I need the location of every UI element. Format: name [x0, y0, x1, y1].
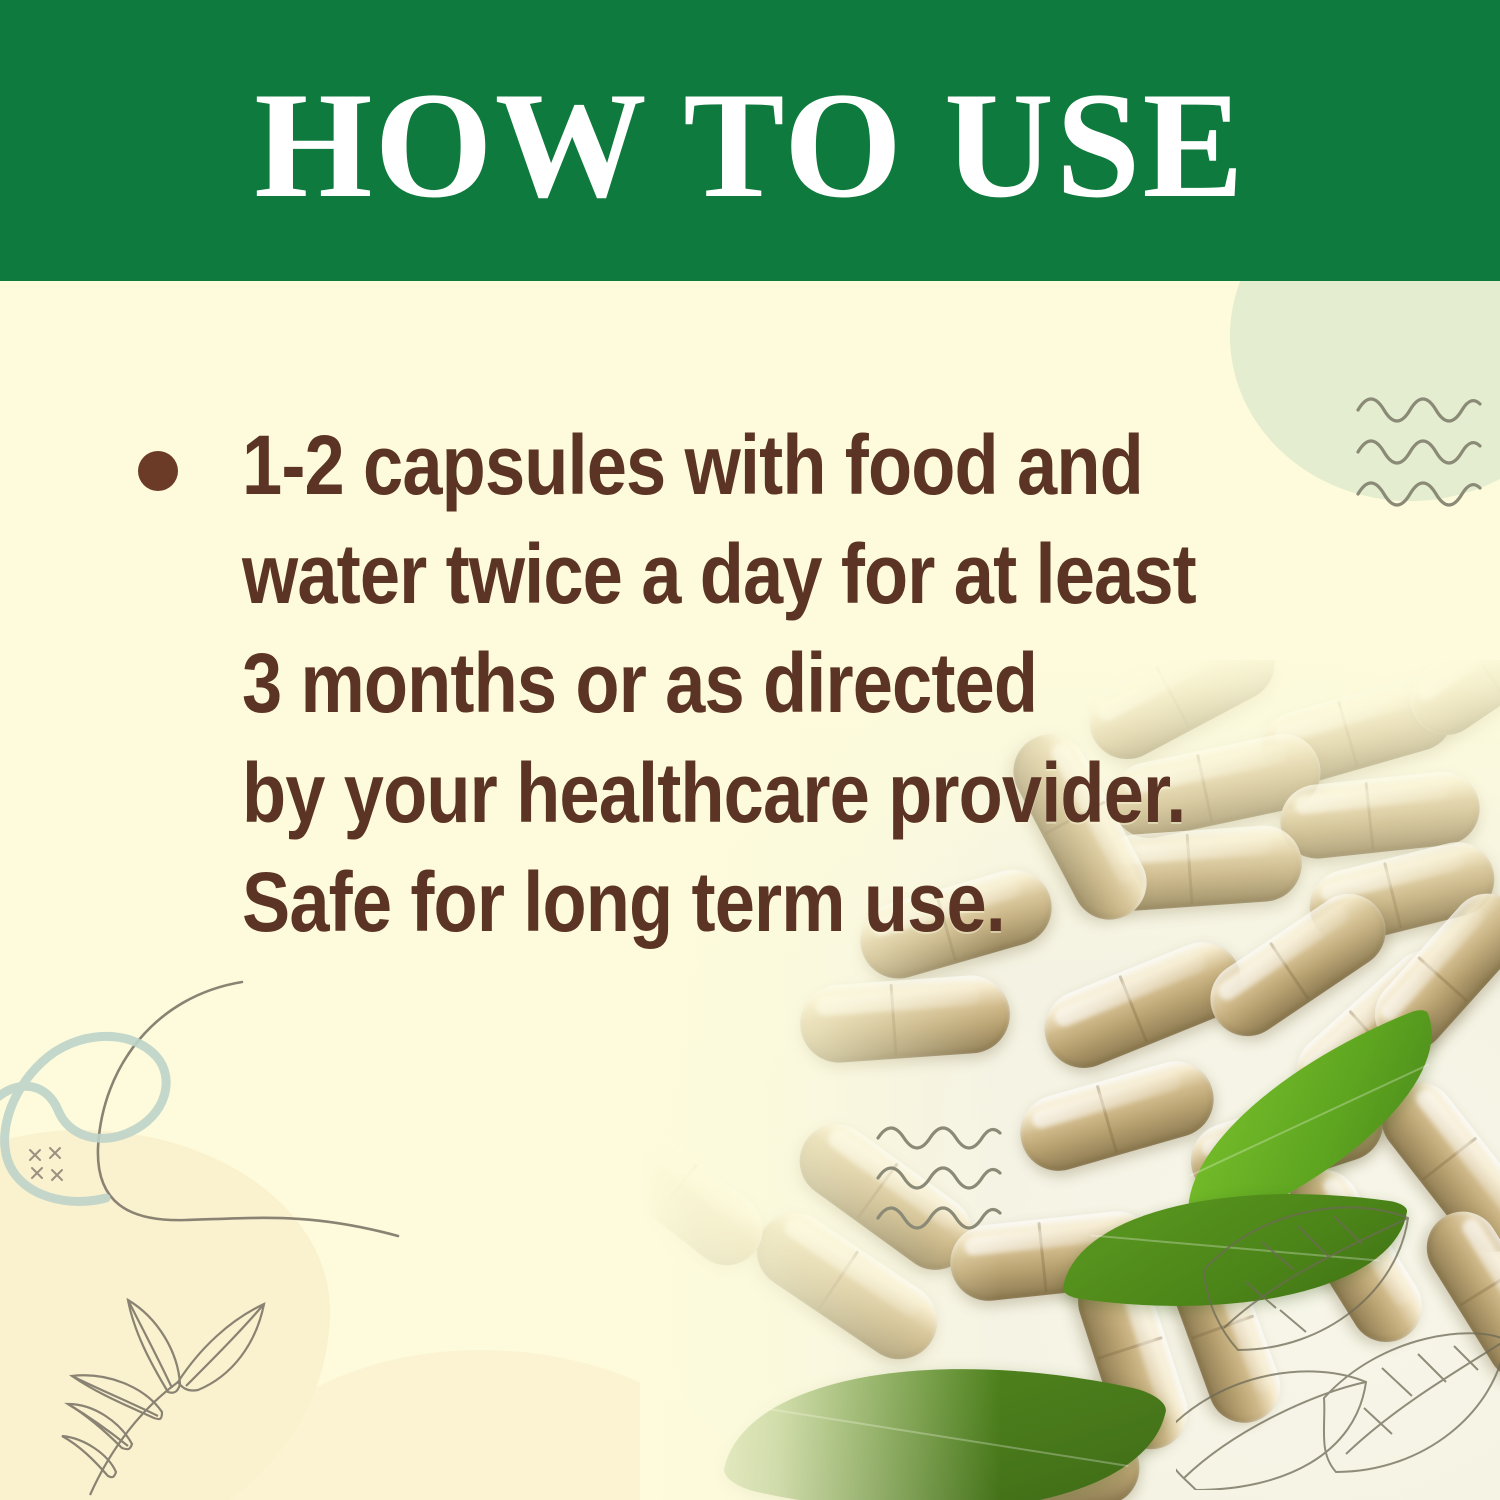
instructions-section: 1-2 capsules with food and water twice a… — [0, 281, 1500, 957]
leaf-vein — [1091, 1235, 1380, 1262]
bullet-dot-icon — [138, 451, 178, 491]
page-title: HOW TO USE — [254, 61, 1246, 221]
instruction-bullet-item: 1-2 capsules with food and water twice a… — [0, 281, 1500, 957]
leaf-vein — [763, 1408, 1128, 1468]
poster-canvas: HOW TO USE 1-2 capsules with food and wa… — [0, 0, 1500, 1500]
instruction-text: 1-2 capsules with food and water twice a… — [242, 411, 1196, 957]
header-banner: HOW TO USE — [0, 0, 1500, 281]
capsule — [798, 973, 1013, 1065]
